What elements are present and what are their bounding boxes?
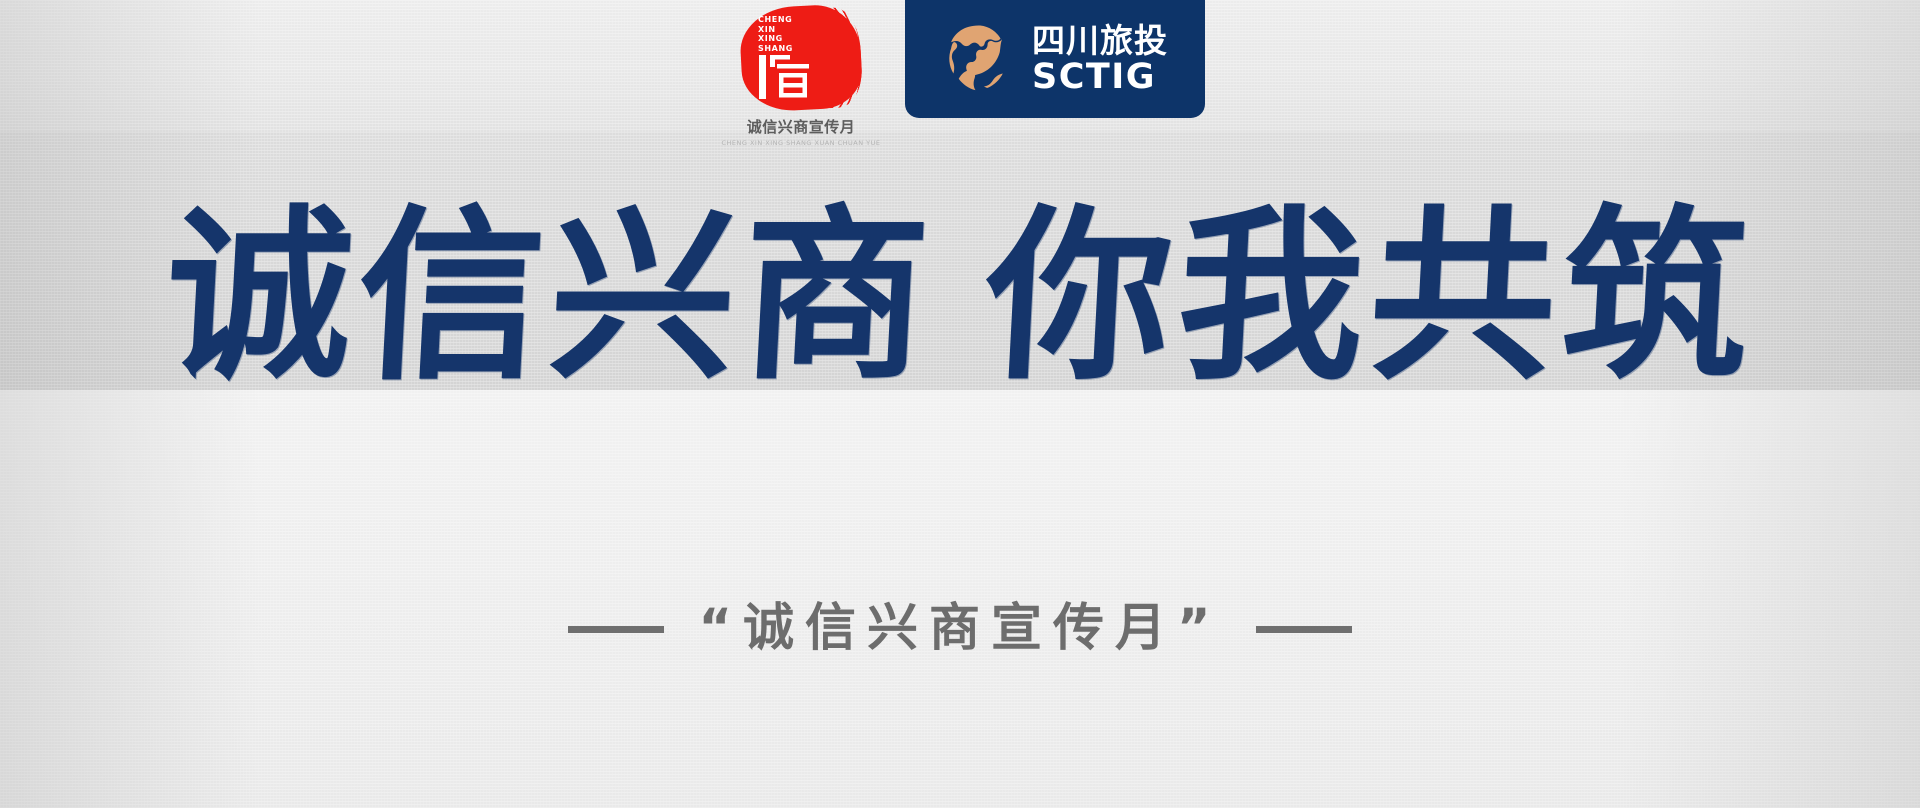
subtitle-dash-right [1256,626,1352,633]
seal-pinyin-line-1: CHENG [758,15,816,25]
seal-pinyin-line-2: XIN [758,25,816,35]
subtitle-dash-left [568,626,664,633]
seal-caption-pinyin: CHENG XIN XING SHANG XUAN CHUAN YUE [721,139,880,147]
headline-part-2: 你我共筑 [980,186,1759,405]
sctig-english-name: SCTIG [1032,59,1156,96]
sctig-chinese-name: 四川旅投 [1032,23,1168,59]
globe-icon [942,21,1018,97]
sctig-logo: 四川旅投 SCTIG [905,0,1205,118]
sctig-wordmark: 四川旅投 SCTIG [1032,23,1168,96]
logo-row: CHENG XIN XING SHANG [0,0,1920,150]
headline: 诚信兴商你我共筑 [0,196,1920,396]
chengxin-seal-logo: CHENG XIN XING SHANG [715,0,887,147]
seal-caption: 诚信兴商宣传月 [747,116,856,137]
headline-part-1: 诚信兴商 [160,186,939,405]
xin-character-icon [757,52,813,102]
subtitle-text: “诚信兴商宣传月” [698,600,1221,658]
seal-pinyin-line-3: XING [758,34,816,44]
campaign-banner: CHENG XIN XING SHANG [0,0,1920,808]
seal-pinyin-stack: CHENG XIN XING SHANG [758,15,816,53]
subtitle-row: “诚信兴商宣传月” [0,600,1920,658]
seal-mark: CHENG XIN XING SHANG [741,6,861,110]
